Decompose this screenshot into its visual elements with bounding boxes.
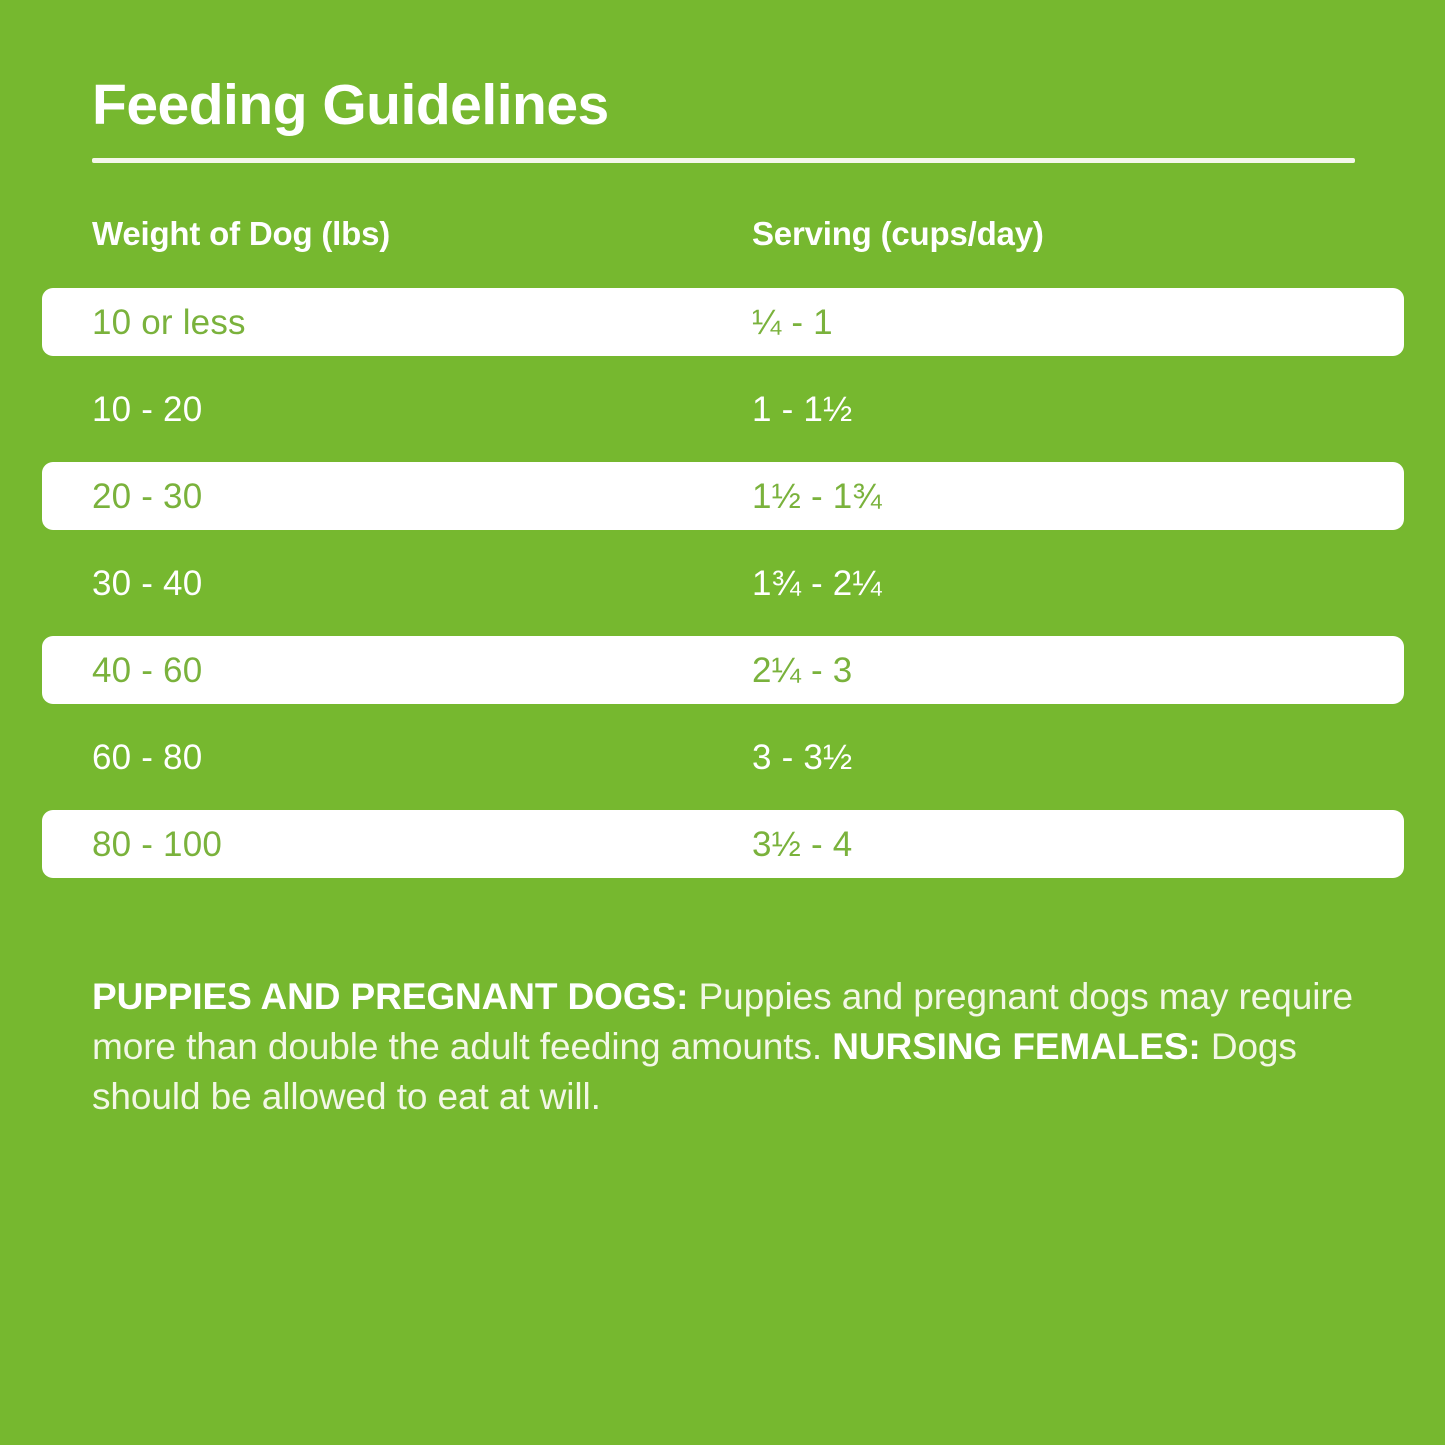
title-block: Feeding Guidelines [92,74,1355,163]
table-row: 80 - 100 3½ - 4 [0,801,1445,888]
table-row: 20 - 30 1½ - 1¾ [0,453,1445,540]
page-title: Feeding Guidelines [92,74,1355,137]
cell-weight: 10 or less [92,303,246,343]
row-background [42,549,1404,617]
footnote-puppies-label: PUPPIES AND PREGNANT DOGS: [92,976,688,1017]
row-background [42,810,1404,878]
table-header-row: Weight of Dog (lbs) Serving (cups/day) [0,207,1445,279]
row-background [42,723,1404,791]
cell-serving: 2¼ - 3 [752,651,852,691]
cell-serving: 1 - 1½ [752,390,852,430]
cell-serving: 3 - 3½ [752,738,852,778]
row-background [42,375,1404,443]
cell-weight: 20 - 30 [92,477,202,517]
cell-serving: ¼ - 1 [752,303,833,343]
column-header-serving: Serving (cups/day) [752,215,1044,253]
row-background [42,462,1404,530]
cell-serving: 3½ - 4 [752,825,852,865]
row-background [42,288,1404,356]
footnote-text: PUPPIES AND PREGNANT DOGS: Puppies and p… [92,972,1367,1122]
cell-weight: 30 - 40 [92,564,202,604]
column-header-weight: Weight of Dog (lbs) [92,215,390,253]
footnote-nursing-label: NURSING FEMALES: [832,1026,1200,1067]
cell-serving: 1¾ - 2¼ [752,564,882,604]
table-row: 60 - 80 3 - 3½ [0,714,1445,801]
row-background [42,636,1404,704]
cell-weight: 40 - 60 [92,651,202,691]
feeding-guidelines-panel: Feeding Guidelines Weight of Dog (lbs) S… [0,0,1445,1445]
table-row: 30 - 40 1¾ - 2¼ [0,540,1445,627]
table-row: 10 or less ¼ - 1 [0,279,1445,366]
cell-serving: 1½ - 1¾ [752,477,882,517]
cell-weight: 80 - 100 [92,825,222,865]
cell-weight: 10 - 20 [92,390,202,430]
feeding-table: Weight of Dog (lbs) Serving (cups/day) 1… [0,207,1445,888]
title-divider [92,158,1355,163]
table-row: 10 - 20 1 - 1½ [0,366,1445,453]
cell-weight: 60 - 80 [92,738,202,778]
table-row: 40 - 60 2¼ - 3 [0,627,1445,714]
